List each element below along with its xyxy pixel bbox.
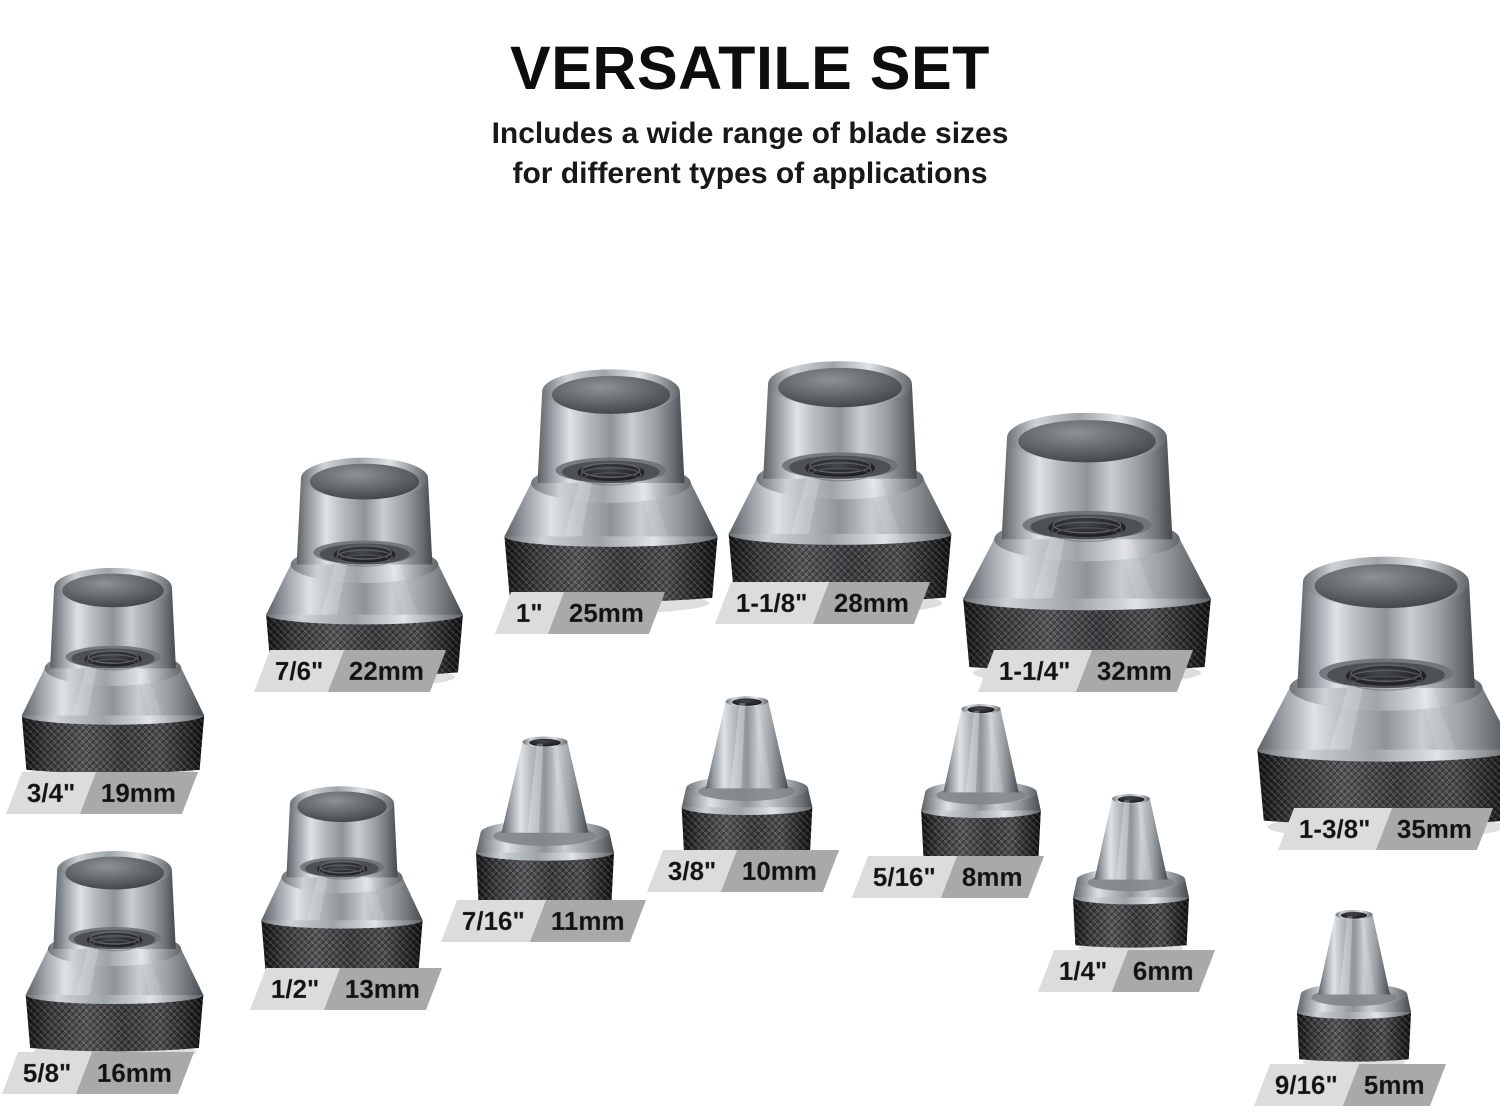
- size-label-10mm: 3/8"10mm: [647, 850, 839, 892]
- size-label-35mm: 1-3/8"35mm: [1278, 808, 1493, 850]
- size-label-metric: 5mm: [1343, 1064, 1446, 1106]
- size-label-32mm: 1-1/4"32mm: [978, 650, 1193, 692]
- nozzle-tip-19mm: [18, 572, 208, 777]
- size-label-13mm: 1/2"13mm: [250, 968, 442, 1010]
- size-label-metric: 32mm: [1076, 650, 1193, 692]
- size-label-metric: 10mm: [721, 850, 838, 892]
- size-label-16mm: 5/8"16mm: [2, 1052, 194, 1094]
- size-label-imperial: 9/16": [1254, 1064, 1359, 1106]
- size-label-6mm: 1/4"6mm: [1038, 950, 1215, 992]
- nozzle-tip-6mm: [1068, 790, 1194, 950]
- nozzle-tip-25mm: [500, 374, 722, 606]
- product-infographic: VERSATILE SET Includes a wide range of b…: [0, 0, 1500, 1116]
- headline-block: VERSATILE SET Includes a wide range of b…: [0, 36, 1500, 193]
- size-label-metric: 35mm: [1376, 808, 1493, 850]
- size-label-5mm: 9/16"5mm: [1254, 1064, 1446, 1106]
- nozzle-tip-11mm: [470, 732, 620, 912]
- nozzle-tip-35mm: [1252, 562, 1500, 830]
- size-label-imperial: 7/16": [441, 900, 546, 942]
- size-label-metric: 22mm: [328, 650, 445, 692]
- size-label-11mm: 7/16"11mm: [441, 900, 646, 942]
- nozzle-tip-13mm: [258, 790, 426, 976]
- subtitle-block: Includes a wide range of blade sizes for…: [0, 114, 1500, 193]
- size-label-25mm: 1"25mm: [495, 592, 665, 634]
- size-label-metric: 25mm: [548, 592, 665, 634]
- size-label-metric: 13mm: [324, 968, 441, 1010]
- nozzle-tip-10mm: [676, 692, 818, 864]
- size-label-imperial: 1-1/8": [715, 582, 829, 624]
- size-label-metric: 11mm: [530, 900, 646, 942]
- size-label-imperial: 1-1/4": [978, 650, 1092, 692]
- nozzle-tip-22mm: [262, 462, 467, 680]
- size-label-19mm: 3/4"19mm: [6, 772, 198, 814]
- nozzle-tip-8mm: [916, 700, 1046, 865]
- size-label-imperial: 1-3/8": [1278, 808, 1392, 850]
- size-label-metric: 6mm: [1112, 950, 1215, 992]
- size-label-metric: 16mm: [76, 1052, 193, 1094]
- size-label-22mm: 7/6"22mm: [254, 650, 446, 692]
- size-label-8mm: 5/16"8mm: [852, 856, 1044, 898]
- size-label-imperial: 5/16": [852, 856, 957, 898]
- nozzle-tip-16mm: [22, 855, 207, 1055]
- size-label-metric: 28mm: [813, 582, 930, 624]
- size-label-metric: 8mm: [941, 856, 1044, 898]
- page-title: VERSATILE SET: [0, 36, 1500, 100]
- nozzle-tip-28mm: [724, 366, 956, 606]
- subtitle-line-2: for different types of applications: [0, 154, 1500, 194]
- nozzle-tip-32mm: [958, 418, 1216, 676]
- nozzle-tip-5mm: [1292, 906, 1416, 1064]
- size-label-28mm: 1-1/8"28mm: [715, 582, 930, 624]
- subtitle-line-1: Includes a wide range of blade sizes: [0, 114, 1500, 154]
- size-label-metric: 19mm: [80, 772, 197, 814]
